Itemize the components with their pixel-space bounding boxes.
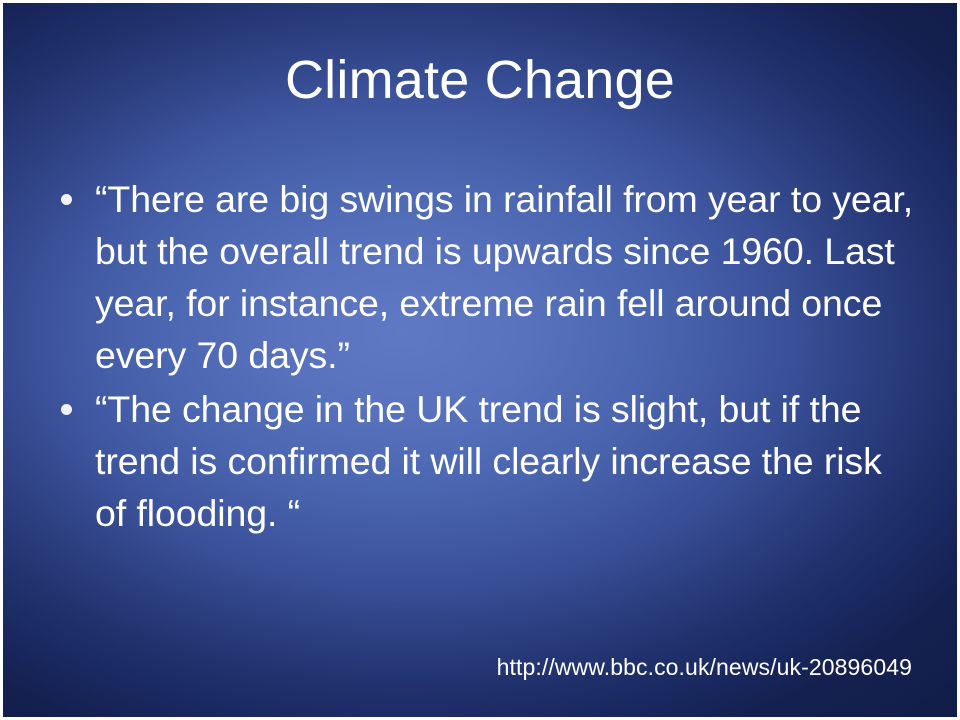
- bullet-item-text: “The change in the UK trend is slight, b…: [95, 383, 918, 539]
- bullet-list-item: “The change in the UK trend is slight, b…: [52, 383, 918, 539]
- source-url-link[interactable]: http://www.bbc.co.uk/news/uk-20896049: [497, 654, 912, 682]
- bullet-item-text: “There are big swings in rainfall from y…: [95, 173, 918, 381]
- disc-bullet-icon: [61, 194, 72, 205]
- slide-title: Climate Change: [0, 52, 960, 109]
- presentation-slide: Climate Change “There are big swings in …: [0, 0, 960, 720]
- slide-body-content: “There are big swings in rainfall from y…: [52, 173, 918, 539]
- disc-bullet-icon: [61, 404, 72, 415]
- bullet-list-item: “There are big swings in rainfall from y…: [52, 173, 918, 381]
